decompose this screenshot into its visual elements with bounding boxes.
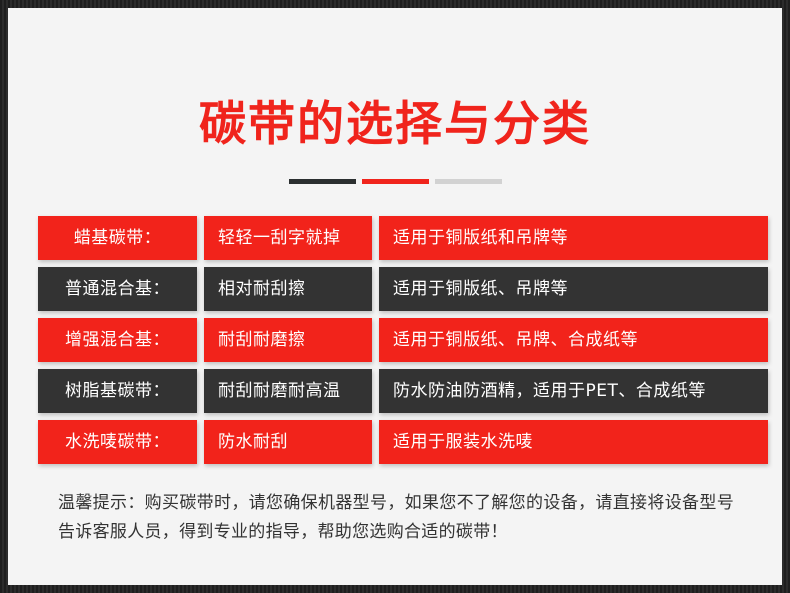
ribbon-type-cell: 水洗唛碳带： bbox=[38, 420, 197, 464]
poster-stage: 碳带的选择与分类 蜡基碳带： 轻轻一刮字就掉 适用于铜版纸和吊牌等 普通混合基：… bbox=[8, 8, 782, 585]
table-row: 水洗唛碳带： 防水耐刮 适用于服装水洗唛 bbox=[38, 420, 768, 464]
ribbon-property-cell: 轻轻一刮字就掉 bbox=[204, 216, 372, 260]
title-block: 碳带的选择与分类 bbox=[8, 96, 782, 154]
ribbon-comparison-table: 蜡基碳带： 轻轻一刮字就掉 适用于铜版纸和吊牌等 普通混合基： 相对耐刮擦 适用… bbox=[38, 216, 768, 471]
ribbon-type-cell: 树脂基碳带： bbox=[38, 369, 197, 413]
ribbon-property-cell: 相对耐刮擦 bbox=[204, 267, 372, 311]
ribbon-application-cell: 适用于铜版纸、吊牌等 bbox=[379, 267, 768, 311]
divider-bar-dark bbox=[289, 179, 356, 184]
ribbon-application-cell: 防水防油防酒精，适用于PET、合成纸等 bbox=[379, 369, 768, 413]
ribbon-application-cell: 适用于铜版纸和吊牌等 bbox=[379, 216, 768, 260]
ribbon-property-cell: 耐刮耐磨耐高温 bbox=[204, 369, 372, 413]
divider-bar-grey bbox=[435, 179, 502, 184]
table-row: 普通混合基： 相对耐刮擦 适用于铜版纸、吊牌等 bbox=[38, 267, 768, 311]
ribbon-type-cell: 普通混合基： bbox=[38, 267, 197, 311]
ribbon-application-cell: 适用于服装水洗唛 bbox=[379, 420, 768, 464]
footer-note: 温馨提示：购买碳带时，请您确保机器型号，如果您不了解您的设备，请直接将设备型号告… bbox=[58, 489, 734, 547]
title-divider-group bbox=[8, 179, 782, 184]
ribbon-type-cell: 增强混合基： bbox=[38, 318, 197, 362]
ribbon-property-cell: 防水耐刮 bbox=[204, 420, 372, 464]
ribbon-type-cell: 蜡基碳带： bbox=[38, 216, 197, 260]
table-row: 增强混合基： 耐刮耐磨擦 适用于铜版纸、吊牌、合成纸等 bbox=[38, 318, 768, 362]
table-row: 树脂基碳带： 耐刮耐磨耐高温 防水防油防酒精，适用于PET、合成纸等 bbox=[38, 369, 768, 413]
poster-frame: 碳带的选择与分类 蜡基碳带： 轻轻一刮字就掉 适用于铜版纸和吊牌等 普通混合基：… bbox=[0, 0, 790, 593]
divider-bar-red bbox=[362, 179, 429, 184]
ribbon-application-cell: 适用于铜版纸、吊牌、合成纸等 bbox=[379, 318, 768, 362]
page-title: 碳带的选择与分类 bbox=[8, 96, 782, 154]
table-row: 蜡基碳带： 轻轻一刮字就掉 适用于铜版纸和吊牌等 bbox=[38, 216, 768, 260]
ribbon-property-cell: 耐刮耐磨擦 bbox=[204, 318, 372, 362]
